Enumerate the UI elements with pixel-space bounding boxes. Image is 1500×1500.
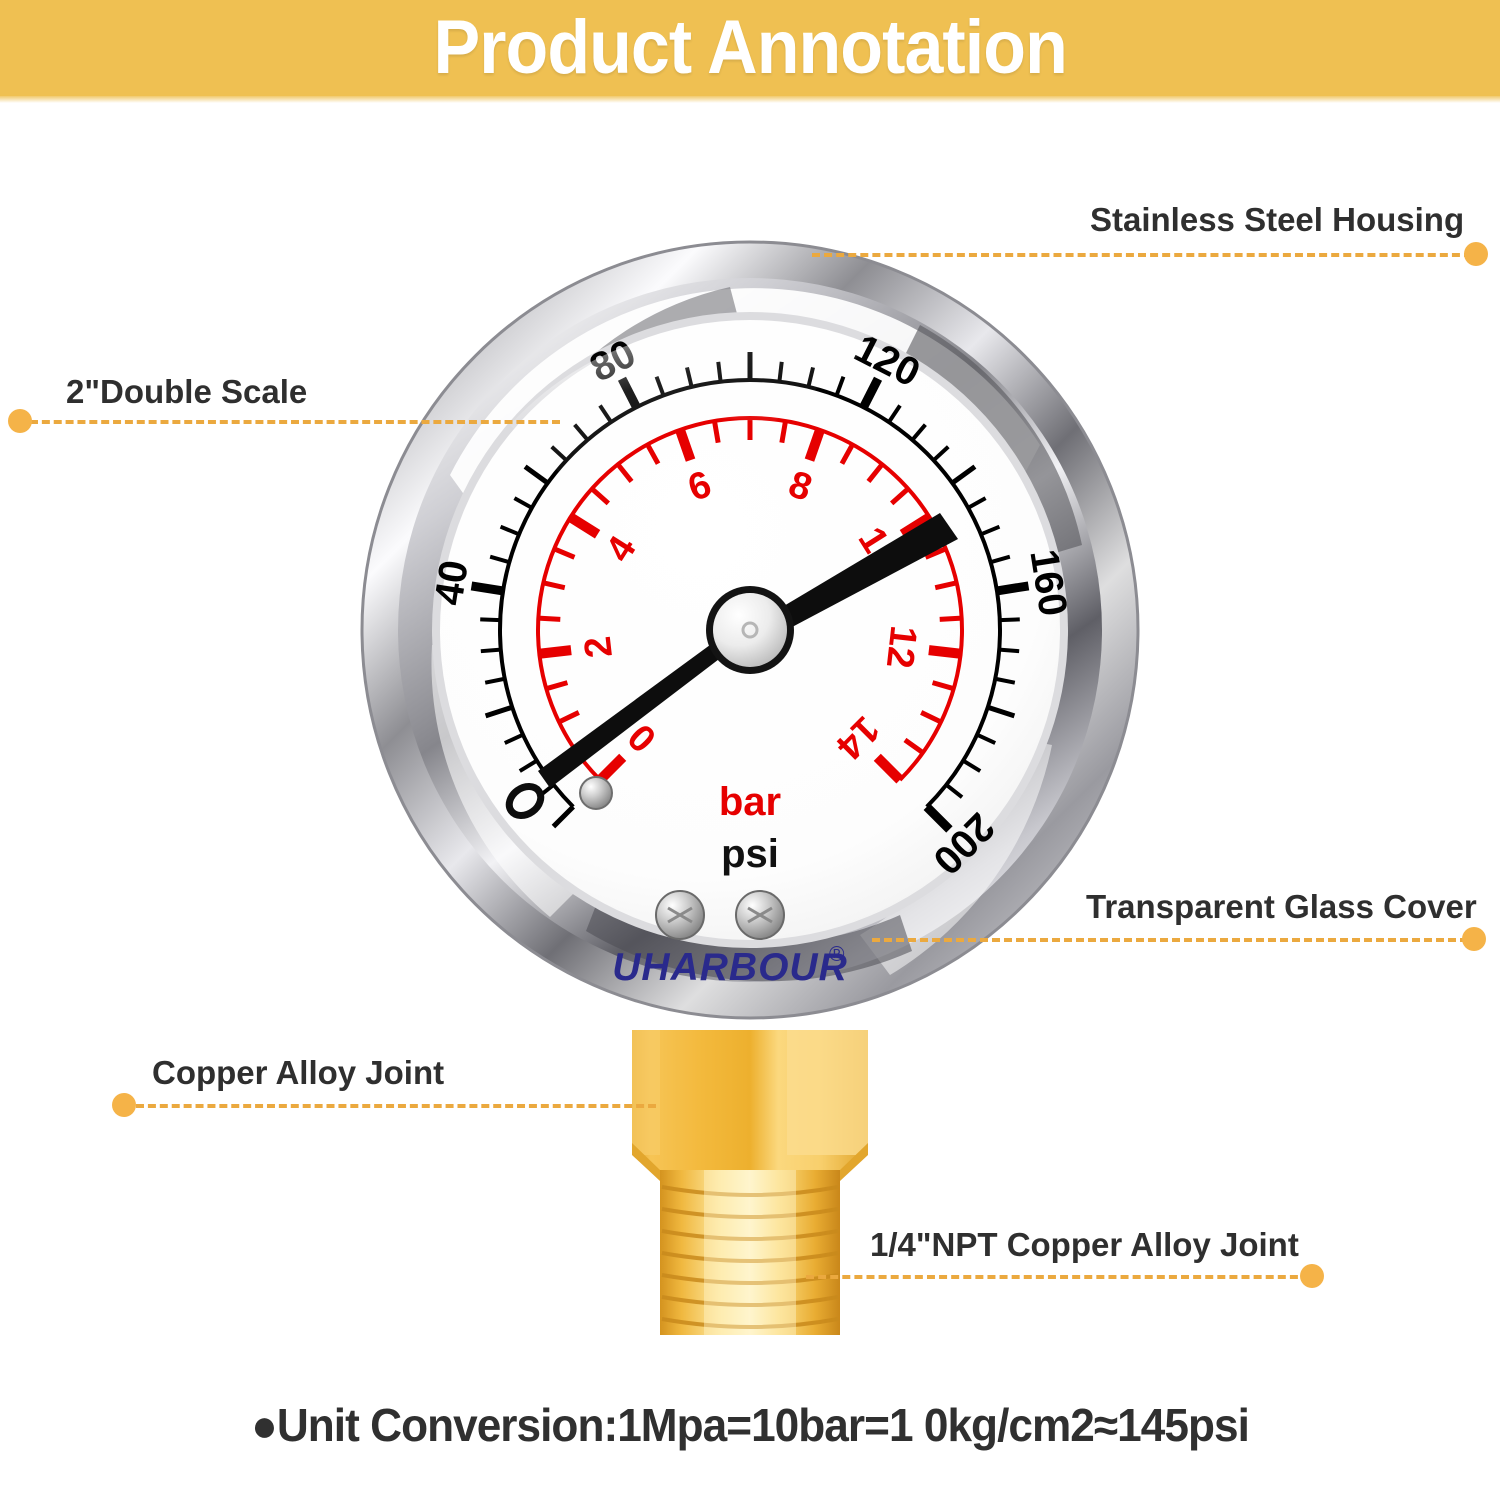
leader-line-npt-copper-alloy-joint [806, 1275, 1310, 1279]
bar-tick-minor [940, 618, 962, 619]
callout-label-double-scale: 2"Double Scale [66, 375, 307, 408]
screw-left [580, 777, 612, 809]
leader-line-double-scale [30, 420, 560, 424]
npt-thread [660, 1170, 840, 1335]
page-header-banner: Product Annotation [0, 0, 1500, 96]
psi-tick-minor [999, 650, 1019, 652]
brand-name: UHARBOUR [612, 946, 848, 989]
psi-tick-minor [480, 619, 500, 620]
thread-highlight [704, 1170, 796, 1335]
callout-dot-double-scale [8, 409, 32, 433]
psi-tick-major [997, 586, 1029, 591]
pressure-gauge-product-image: 408012016020002468101214 bar psi [300, 175, 1200, 1335]
hex-facet-left [632, 1030, 660, 1155]
psi-label-40: 40 [427, 557, 477, 608]
needle-hub [713, 593, 787, 667]
psi-tick-major [471, 586, 503, 591]
callout-label-npt-copper-alloy-joint: 1/4"NPT Copper Alloy Joint [870, 1228, 1299, 1261]
unit-label-bar: bar [719, 780, 781, 824]
psi-tick-minor [481, 650, 501, 652]
page-title: Product Annotation [433, 10, 1066, 86]
unit-label-psi: psi [721, 832, 779, 876]
psi-tick-minor [1000, 619, 1020, 620]
unit-conversion-caption: ●Unit Conversion:1Mpa=10bar=1 0kg/cm2≈14… [30, 1398, 1470, 1452]
leader-line-transparent-glass-cover [872, 938, 1468, 942]
gauge-svg: 408012016020002468101214 bar psi [300, 175, 1200, 1335]
callout-dot-transparent-glass-cover [1462, 927, 1486, 951]
callout-label-stainless-steel-housing: Stainless Steel Housing [1090, 203, 1464, 236]
bar-label-12: 12 [878, 624, 924, 671]
brand-mark: UHARBOUR ® [612, 943, 848, 989]
callout-dot-stainless-steel-housing [1464, 242, 1488, 266]
bar-tick-minor [538, 618, 560, 619]
bar-tick-major [929, 650, 961, 654]
leader-line-copper-alloy-joint [136, 1104, 656, 1108]
product-annotation-page: Product Annotation [0, 0, 1500, 1500]
registered-mark: ® [829, 943, 845, 966]
callout-dot-npt-copper-alloy-joint [1300, 1264, 1324, 1288]
copper-alloy-joint-part [632, 1030, 868, 1335]
callout-label-copper-alloy-joint: Copper Alloy Joint [152, 1056, 444, 1089]
callout-label-transparent-glass-cover: Transparent Glass Cover [1086, 890, 1477, 923]
hex-facet-right [787, 1030, 868, 1155]
leader-line-stainless-steel-housing [812, 253, 1472, 257]
bar-tick-major [539, 650, 571, 654]
header-shadow [0, 96, 1500, 103]
callout-dot-copper-alloy-joint [112, 1093, 136, 1117]
